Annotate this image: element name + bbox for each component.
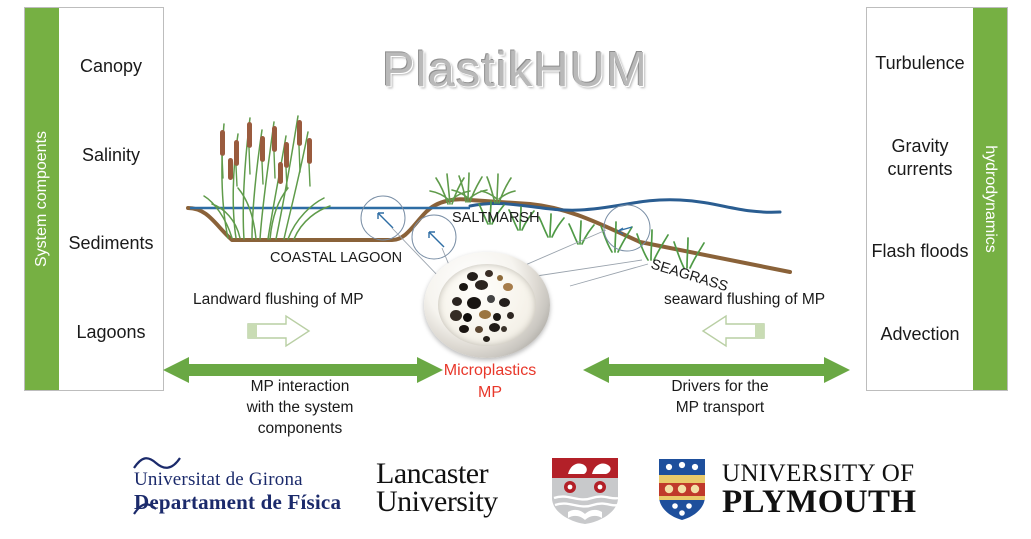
- list-item-sediments: Sediments: [68, 232, 153, 255]
- girona-line2: Departament de Física: [134, 490, 341, 515]
- diagram-canvas: System compoents Canopy Salinity Sedimen…: [0, 0, 1031, 539]
- list-item-lagoons: Lagoons: [76, 321, 145, 344]
- logo-lancaster-university: Lancaster University: [376, 452, 624, 524]
- list-item-flash-floods: Flash floods: [871, 240, 968, 263]
- girona-line1: Universitat de Girona: [134, 469, 303, 491]
- hydrodynamics-panel: Turbulence Gravity currents Flash floods…: [866, 7, 1008, 391]
- landward-flushing-arrow-icon: [246, 313, 312, 349]
- page-title: PlastikHUM: [355, 42, 675, 98]
- mp-interaction-caption-line3: components: [205, 419, 395, 440]
- logo-university-of-plymouth: UNIVERSITY OF PLYMOUTH: [656, 452, 924, 524]
- landward-flushing-label: Landward flushing of MP: [193, 291, 364, 309]
- list-item-turbulence: Turbulence: [875, 52, 964, 75]
- seagrass-leader-line: [570, 264, 648, 286]
- microplastics-petri-dish: [424, 252, 550, 358]
- label-seagrass: SEAGRASS: [649, 257, 730, 296]
- hydrodynamics-bar-label: hydrodynamics: [981, 145, 999, 253]
- seaward-flushing-arrow-icon: [700, 313, 766, 349]
- lancaster-line2: University: [376, 488, 498, 517]
- list-item-canopy: Canopy: [80, 55, 142, 78]
- lancaster-crest-icon: [548, 454, 622, 526]
- cattail-vegetation: [204, 116, 330, 239]
- label-coastal-lagoon: COASTAL LAGOON: [270, 250, 402, 266]
- list-item-salinity: Salinity: [82, 144, 140, 167]
- hydrodynamics-bar: hydrodynamics: [973, 8, 1007, 390]
- mp-transport-caption-line2: MP transport: [630, 398, 810, 419]
- plymouth-line2: PLYMOUTH: [722, 484, 917, 521]
- label-saltmarsh: SALTMARSH: [452, 210, 540, 226]
- petri-dish-contents: [438, 264, 536, 347]
- list-item-gravity-currents: Gravity currents: [871, 135, 969, 180]
- system-components-list: Canopy Salinity Sediments Lagoons: [59, 8, 163, 390]
- system-components-bar: System compoents: [25, 8, 59, 390]
- seaward-flushing-label: seaward flushing of MP: [664, 291, 825, 309]
- mp-interaction-caption-line1: MP interaction: [205, 377, 395, 398]
- list-item-advection: Advection: [880, 323, 959, 346]
- mp-transport-caption: Drivers for the MP transport: [630, 377, 810, 419]
- system-components-bar-label: System compoents: [33, 131, 51, 267]
- logo-universitat-de-girona: Universitat de Girona Departament de Fís…: [122, 452, 354, 520]
- mp-transport-caption-line1: Drivers for the: [630, 377, 810, 398]
- system-components-panel: System compoents Canopy Salinity Sedimen…: [24, 7, 164, 391]
- mp-interaction-caption: MP interaction with the system component…: [205, 377, 395, 440]
- plymouth-crest-icon: [656, 456, 708, 522]
- hydrodynamics-list: Turbulence Gravity currents Flash floods…: [867, 8, 973, 390]
- mp-interaction-caption-line2: with the system: [205, 398, 395, 419]
